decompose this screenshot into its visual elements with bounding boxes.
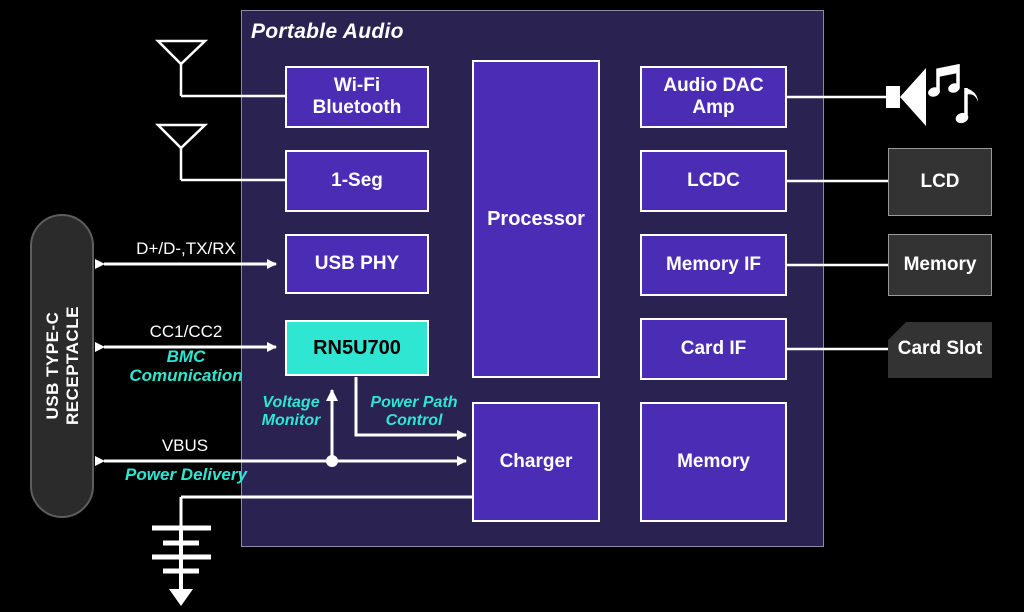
music-note-icon (928, 64, 988, 132)
external-memory[interactable]: Memory (888, 234, 992, 296)
block-processor[interactable]: Processor (472, 60, 600, 378)
block-audio-dac-amp[interactable]: Audio DAC Amp (640, 66, 787, 128)
label-voltage-monitor: Voltage Monitor (244, 394, 338, 429)
battery-icon (152, 528, 211, 571)
block-memory-if[interactable]: Memory IF (640, 234, 787, 296)
block-diagram-canvas: Portable Audio (0, 0, 1024, 612)
block-memory-internal[interactable]: Memory (640, 402, 787, 522)
block-charger[interactable]: Charger (472, 402, 600, 522)
ground-arrow-icon (169, 571, 193, 606)
label-vbus: VBUS (110, 437, 260, 456)
usb-type-c-receptacle: USB TYPE-C RECEPTACLE (30, 214, 94, 518)
block-wifi-bluetooth[interactable]: Wi-Fi Bluetooth (285, 66, 429, 128)
block-usb-phy[interactable]: USB PHY (285, 234, 429, 294)
page-title: Portable Audio (251, 20, 404, 44)
speaker-icon (886, 66, 932, 128)
external-card-slot[interactable]: Card Slot (888, 322, 992, 378)
label-power-delivery: Power Delivery (106, 466, 266, 485)
block-card-if[interactable]: Card IF (640, 318, 787, 380)
label-cc-lines: CC1/CC2 (106, 323, 266, 342)
external-lcd[interactable]: LCD (888, 148, 992, 216)
card-slot-label: Card Slot (888, 338, 992, 360)
block-lcdc[interactable]: LCDC (640, 150, 787, 212)
label-bmc-communication: BMC Comunication (106, 348, 266, 385)
label-power-path-control: Power Path Control (358, 394, 470, 429)
usb-receptacle-label: USB TYPE-C RECEPTACLE (42, 307, 81, 426)
label-usb-data: D+/D-,TX/RX (106, 240, 266, 259)
block-rn5u700[interactable]: RN5U700 (285, 320, 429, 376)
block-1-seg[interactable]: 1-Seg (285, 150, 429, 212)
